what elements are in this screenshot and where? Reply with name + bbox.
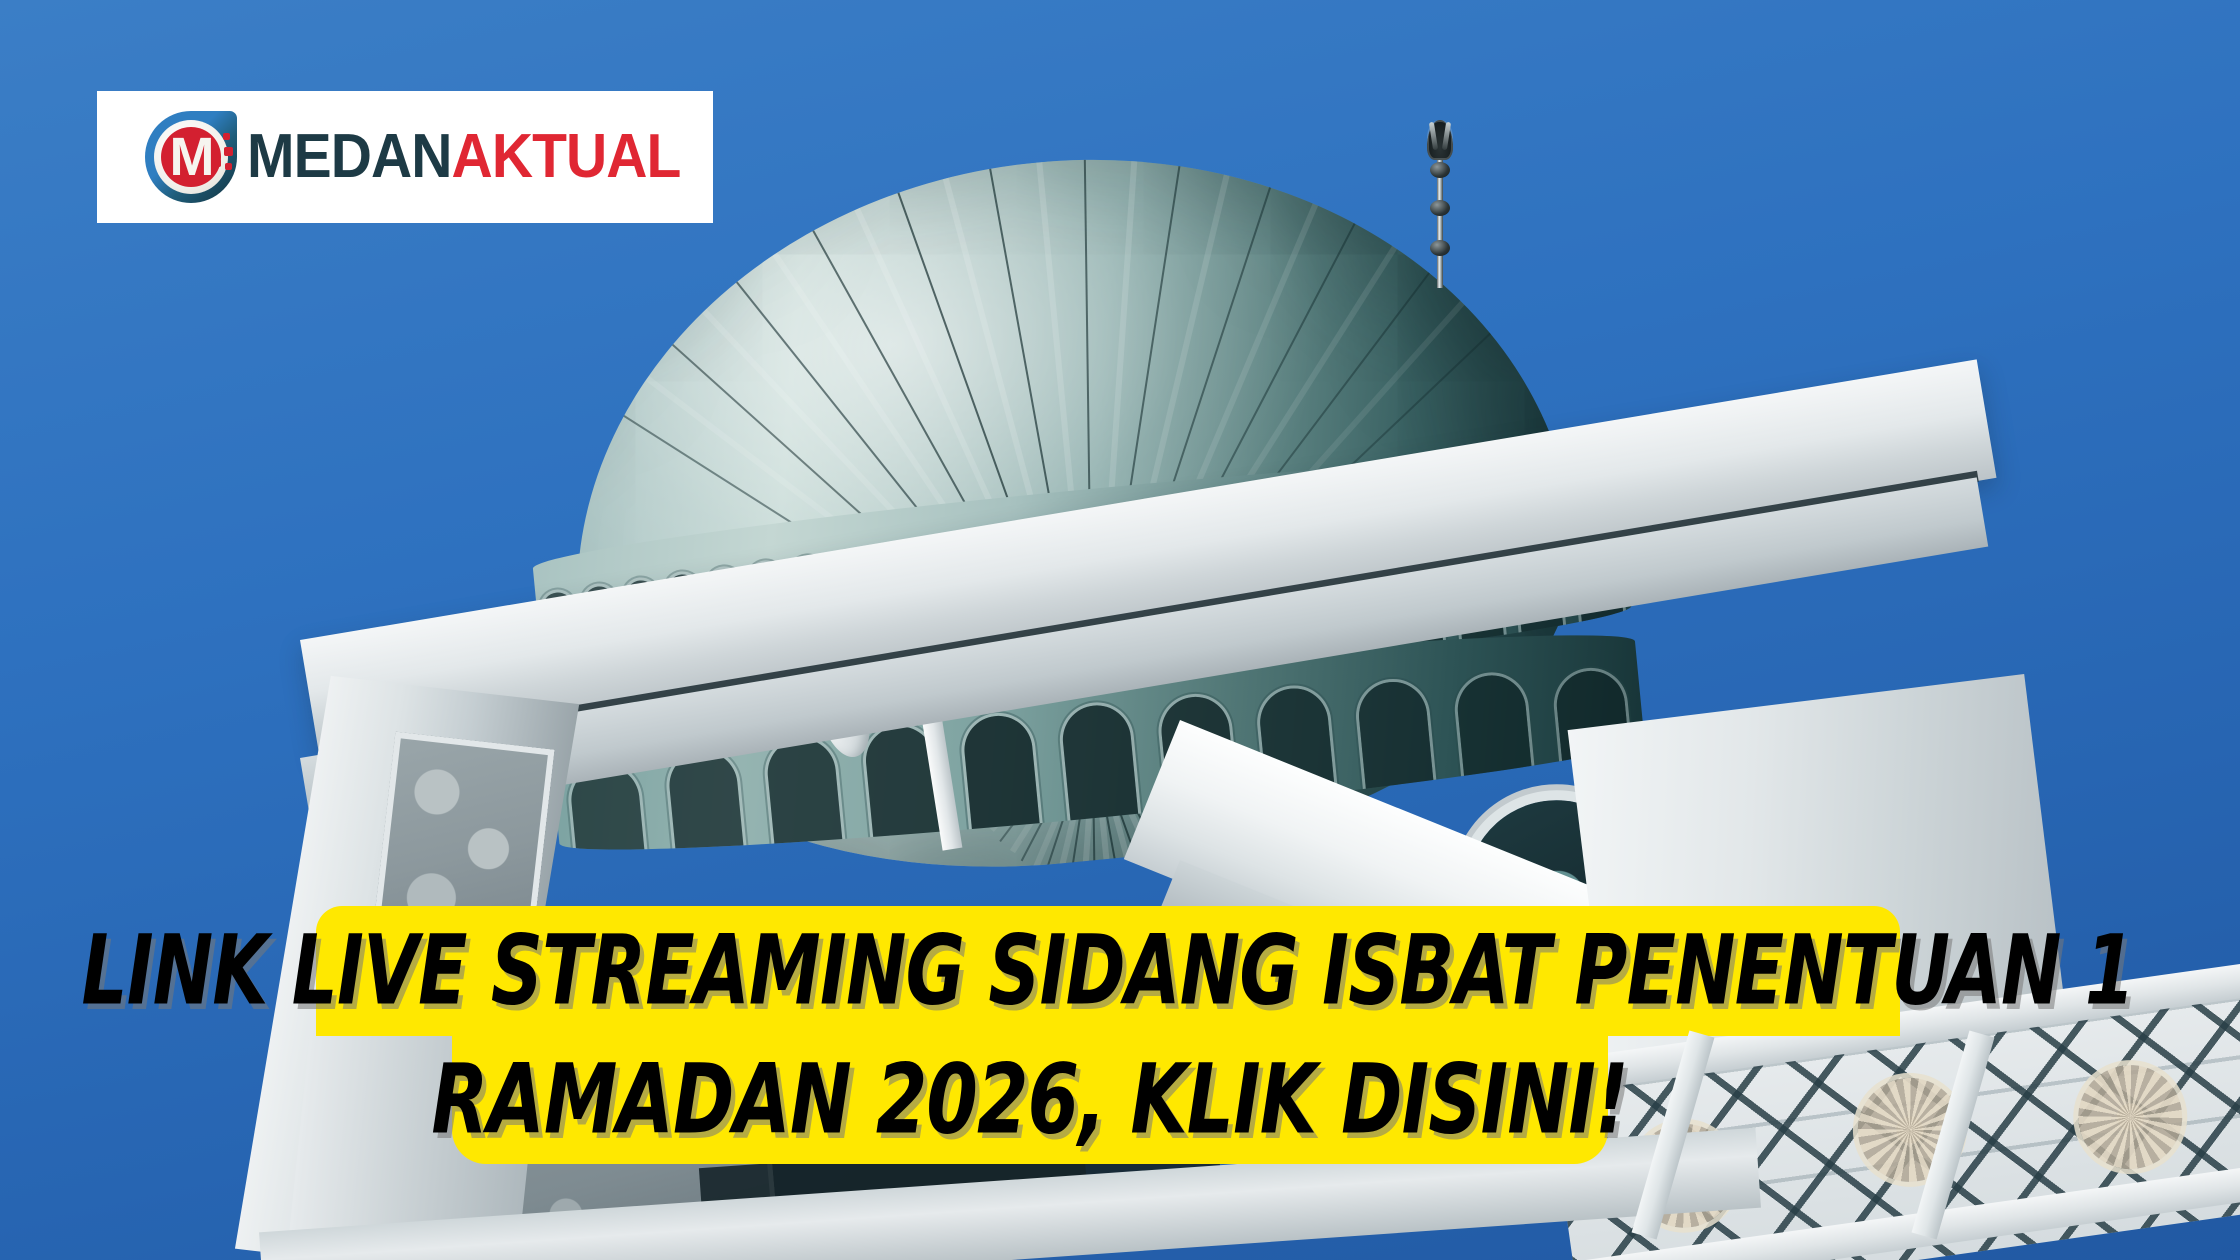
headline-banner-line2[interactable]: RAMADAN 2026, KLIK DISINI!	[452, 1036, 1608, 1164]
medanaktual-logo[interactable]: M MEDANAKTUAL	[97, 91, 713, 223]
logo-mark-icon: M	[145, 111, 237, 203]
logo-word-primary: MEDAN	[247, 122, 452, 191]
thumbnail-canvas: M MEDANAKTUAL LINK LIVE STREAMING SIDANG…	[0, 0, 2240, 1260]
headline-text-line2: RAMADAN 2026, KLIK DISINI!	[432, 1052, 1629, 1148]
logo-dots-cluster	[209, 133, 235, 177]
lattice-rosette	[2072, 1058, 2189, 1175]
headline-banner-line1[interactable]: LINK LIVE STREAMING SIDANG ISBAT PENENTU…	[316, 906, 1900, 1036]
logo-word-secondary: AKTUAL	[452, 122, 681, 191]
headline-text-line1: LINK LIVE STREAMING SIDANG ISBAT PENENTU…	[82, 923, 2135, 1019]
logo-wordmark: MEDANAKTUAL	[247, 126, 680, 188]
